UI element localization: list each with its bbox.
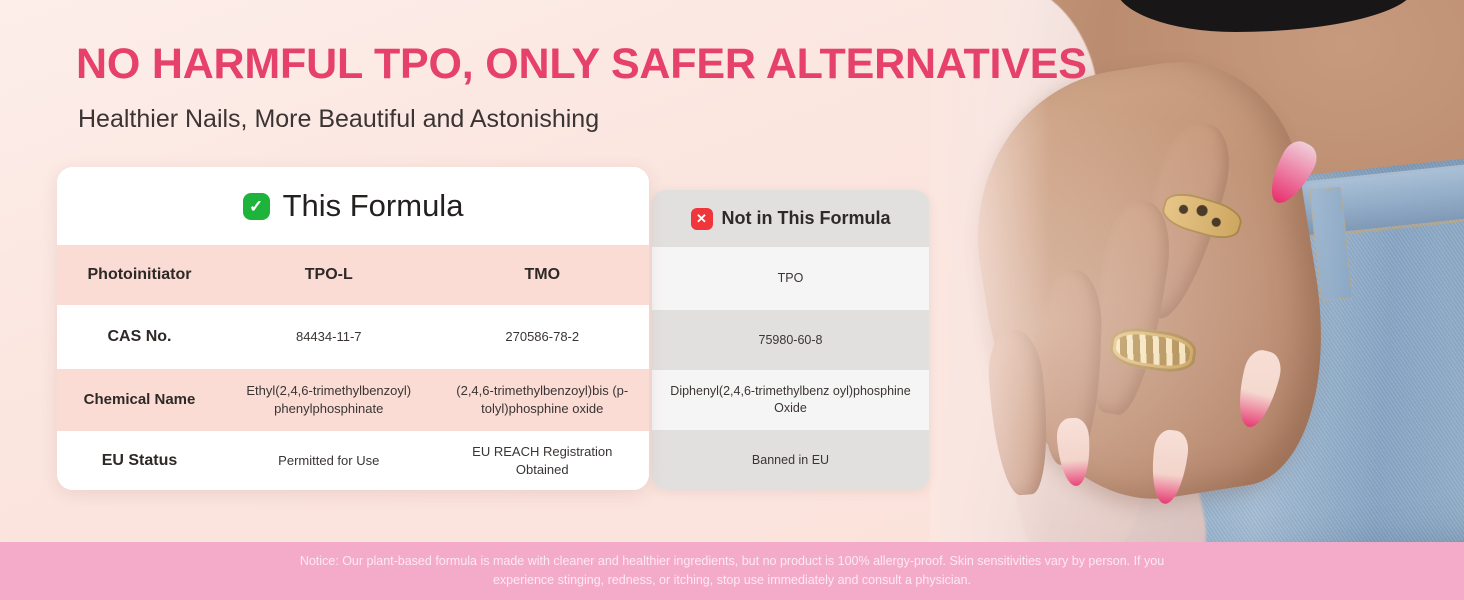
good-panel-title: This Formula bbox=[283, 188, 464, 224]
bad-cell-eu-status: Banned in EU bbox=[752, 452, 829, 469]
good-cell-tmo-header: TMO bbox=[436, 264, 650, 286]
bad-cell-photoinitiator: TPO bbox=[778, 270, 804, 287]
footer-notice-text: Notice: Our plant-based formula is made … bbox=[282, 552, 1182, 590]
table-row: Chemical Name Ethyl(2,4,6-trimethylbenzo… bbox=[57, 369, 649, 431]
page-title: NO HARMFUL TPO, ONLY SAFER ALTERNATIVES bbox=[76, 40, 1087, 89]
this-formula-panel: ✓ This Formula Photoinitiator TPO-L TMO … bbox=[57, 167, 649, 490]
good-cell-tpol-cas: 84434-11-7 bbox=[222, 328, 436, 346]
check-icon: ✓ bbox=[243, 193, 270, 220]
table-row: Banned in EU bbox=[652, 430, 929, 490]
not-in-this-formula-panel: ✕ Not in This Formula TPO 75980-60-8 Dip… bbox=[652, 190, 929, 490]
bad-panel-title: Not in This Formula bbox=[722, 208, 891, 229]
table-row: CAS No. 84434-11-7 270586-78-2 bbox=[57, 305, 649, 369]
cross-icon: ✕ bbox=[691, 208, 713, 230]
table-row: TPO bbox=[652, 247, 929, 310]
good-cell-tpol-eu-status: Permitted for Use bbox=[222, 452, 436, 470]
bad-cell-chemical-name: Diphenyl(2,4,6-trimethylbenz oyl)phosphi… bbox=[666, 383, 915, 417]
good-cell-tmo-eu-status: EU REACH Registration Obtained bbox=[436, 443, 650, 478]
page-subtitle: Healthier Nails, More Beautiful and Asto… bbox=[78, 105, 599, 134]
footer-notice-band: Notice: Our plant-based formula is made … bbox=[0, 542, 1464, 600]
bad-panel-header: ✕ Not in This Formula bbox=[652, 190, 929, 247]
good-cell-tpol-chemical-name: Ethyl(2,4,6-trimethylbenzoyl) phenylphos… bbox=[222, 382, 436, 417]
table-row: EU Status Permitted for Use EU REACH Reg… bbox=[57, 431, 649, 490]
row-label-photoinitiator: Photoinitiator bbox=[57, 265, 222, 284]
row-label-cas-no: CAS No. bbox=[57, 327, 222, 346]
bad-cell-cas-no: 75980-60-8 bbox=[759, 332, 823, 349]
table-row: 75980-60-8 bbox=[652, 310, 929, 370]
good-panel-header: ✓ This Formula bbox=[57, 167, 649, 245]
row-label-chemical-name: Chemical Name bbox=[57, 391, 222, 409]
good-cell-tmo-cas: 270586-78-2 bbox=[436, 328, 650, 346]
row-label-eu-status: EU Status bbox=[57, 451, 222, 470]
table-row: Diphenyl(2,4,6-trimethylbenz oyl)phosphi… bbox=[652, 370, 929, 430]
banner-stage: NO HARMFUL TPO, ONLY SAFER ALTERNATIVES … bbox=[0, 0, 1464, 600]
table-row: Photoinitiator TPO-L TMO bbox=[57, 245, 649, 305]
good-cell-tmo-chemical-name: (2,4,6-trimethylbenzoyl)bis (p-tolyl)pho… bbox=[436, 382, 650, 417]
good-cell-tpol-header: TPO-L bbox=[222, 264, 436, 286]
